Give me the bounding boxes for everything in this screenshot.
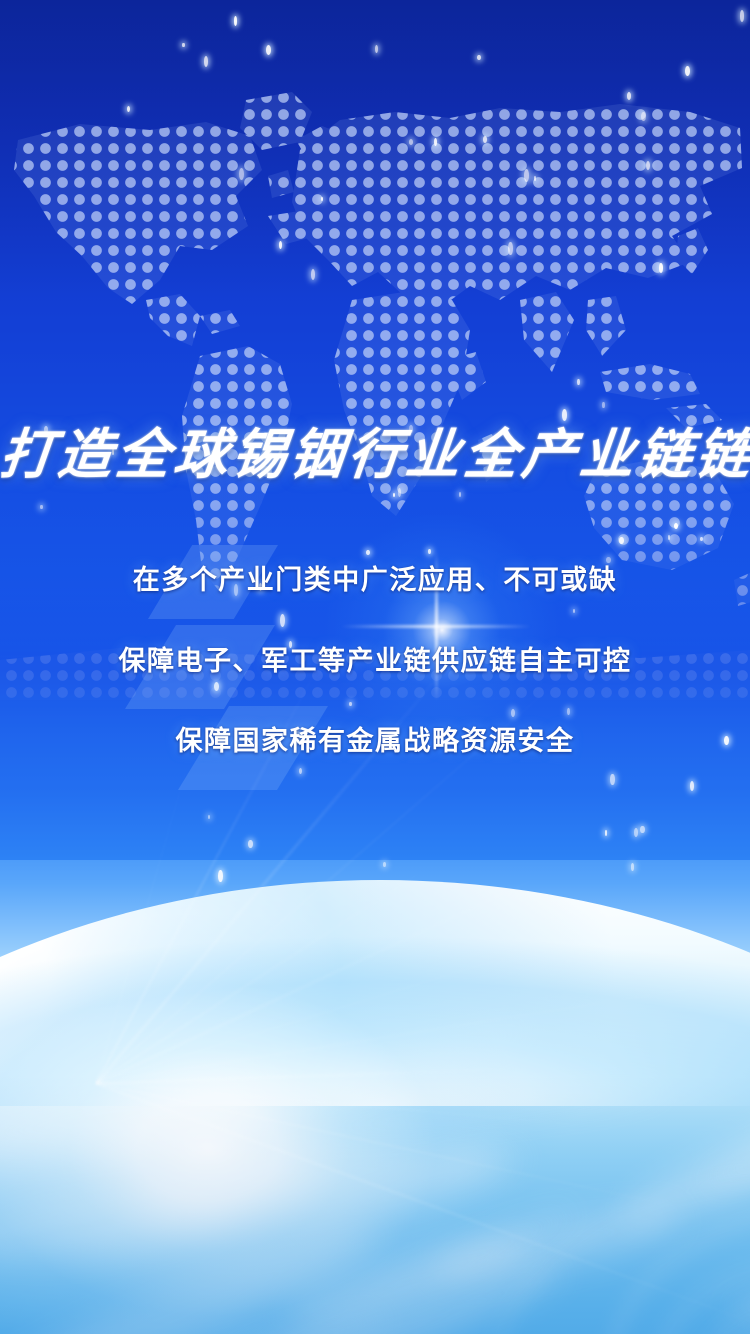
star-particle (619, 537, 624, 544)
star-particle (204, 56, 208, 67)
earth-horizon (0, 880, 750, 1334)
star-particle (393, 493, 395, 497)
star-particle (567, 708, 570, 715)
star-particle (239, 168, 244, 180)
star-particle (477, 55, 481, 60)
star-particle (700, 537, 703, 541)
star-particle (375, 45, 378, 54)
star-particle (659, 263, 664, 273)
star-particle (631, 863, 635, 871)
star-particle (674, 523, 678, 529)
star-particle (605, 830, 608, 836)
star-particle (398, 488, 402, 498)
star-particle (127, 106, 131, 113)
star-particle (577, 379, 579, 386)
poster-subtitle-1: 在多个产业门类中广泛应用、不可或缺 (0, 563, 750, 597)
star-particle (690, 781, 694, 791)
star-particle (641, 112, 646, 121)
star-particle (508, 242, 513, 255)
star-particle (534, 176, 536, 181)
star-particle (280, 614, 285, 627)
poster-subtitle-3: 保障国家稀有金属战略资源安全 (0, 724, 750, 758)
star-particle (40, 505, 42, 509)
star-particle (349, 702, 352, 706)
star-particle (218, 870, 223, 882)
star-particle (234, 16, 238, 26)
star-particle (627, 92, 631, 100)
star-particle (483, 136, 488, 143)
flare-spike-horizontal-icon (341, 625, 531, 628)
star-particle (321, 197, 323, 201)
star-particle (248, 840, 253, 848)
star-particle (459, 492, 461, 497)
star-particle (182, 43, 185, 48)
star-particle (409, 139, 413, 145)
poster-canvas: 打造全球锡铟行业全产业链链主 在多个产业门类中广泛应用、不可或缺 保障电子、军工… (0, 0, 750, 1334)
star-particle (573, 609, 575, 613)
star-particles (0, 0, 750, 1010)
star-particle (383, 862, 386, 867)
star-particle (646, 161, 650, 170)
star-particle (685, 66, 690, 77)
star-particle (668, 535, 671, 540)
star-particle (208, 815, 210, 819)
poster-subtitle-2: 保障电子、军工等产业链供应链自主可控 (0, 644, 750, 678)
star-particle (299, 768, 302, 775)
star-particle (602, 402, 604, 408)
star-particle (511, 709, 515, 717)
star-particle (279, 241, 282, 249)
star-particle (740, 10, 744, 21)
star-particle (366, 550, 370, 555)
star-particle (610, 774, 614, 786)
star-particle (634, 828, 638, 836)
poster-title: 打造全球锡铟行业全产业链链主 (0, 424, 750, 486)
star-particle (266, 45, 271, 55)
star-particle (524, 169, 529, 182)
star-particle (311, 269, 315, 280)
star-particle (562, 409, 567, 421)
star-particle (434, 138, 437, 146)
star-particle (640, 826, 645, 834)
star-particle (428, 549, 431, 554)
